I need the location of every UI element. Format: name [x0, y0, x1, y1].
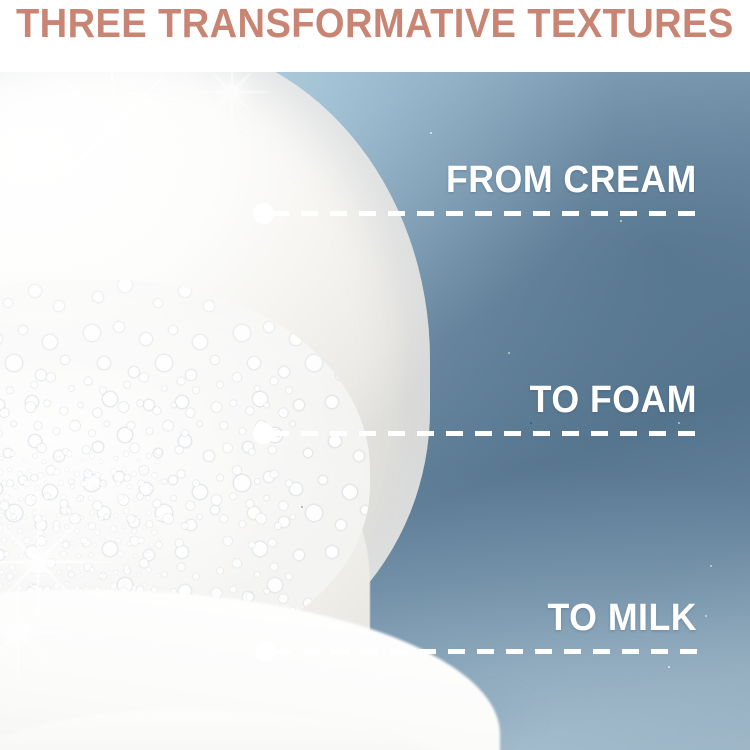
milk-shadow	[0, 668, 580, 750]
header-band: THREE TRANSFORMATIVE TEXTURES	[0, 0, 750, 72]
foam-bubbles-medium	[0, 368, 302, 616]
cream-swatch	[0, 70, 430, 680]
foam-bubbles-large	[0, 280, 370, 660]
callout-dashed-line	[274, 649, 697, 654]
callout-label-to-milk: TO MILK	[548, 599, 697, 637]
foam-highlight-veil	[0, 280, 370, 660]
callout-dashed-line	[272, 431, 697, 436]
milk-tongue	[0, 710, 460, 750]
foam-bubble-field	[0, 280, 370, 660]
callout-dashed-line	[272, 211, 697, 216]
page-title: THREE TRANSFORMATIVE TEXTURES	[16, 3, 734, 44]
callout-dot-marker[interactable]	[253, 423, 274, 444]
callout-dot-marker[interactable]	[255, 641, 276, 662]
milk-sheet	[0, 590, 500, 750]
callout-label-to-foam: TO FOAM	[530, 381, 697, 419]
poster-canvas: FROM CREAM TO FOAM TO MILK THREE TRANSFO…	[0, 0, 750, 750]
foam-bubbles-small	[0, 448, 166, 600]
callout-dot-marker[interactable]	[253, 203, 274, 224]
callout-label-from-cream: FROM CREAM	[446, 161, 697, 199]
milk-lobe	[0, 370, 370, 750]
